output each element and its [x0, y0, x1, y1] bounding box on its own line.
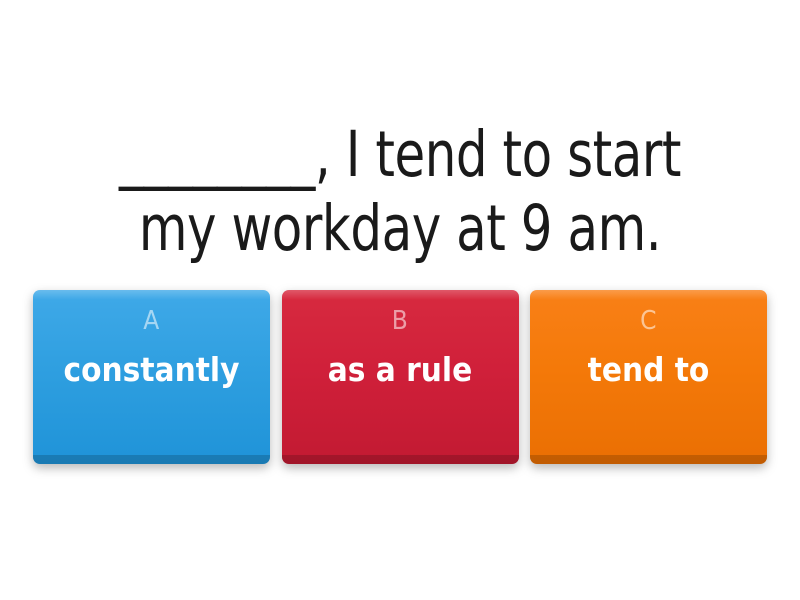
question-area: ________, I tend to start my workday at …: [0, 112, 800, 272]
answer-card-b[interactable]: B as a rule: [282, 290, 519, 464]
answer-card-a[interactable]: A constantly: [33, 290, 270, 464]
answer-card-c[interactable]: C tend to: [530, 290, 767, 464]
answer-label-c: tend to: [530, 352, 767, 389]
answer-options-row: A constantly B as a rule C tend to: [33, 290, 767, 464]
answer-letter-b: B: [392, 308, 409, 334]
answer-letter-c: C: [640, 308, 657, 334]
question-text: ________, I tend to start my workday at …: [79, 118, 721, 265]
answer-label-b: as a rule: [282, 352, 519, 389]
answer-letter-a: A: [143, 308, 160, 334]
answer-label-a: constantly: [33, 352, 270, 389]
quiz-slide: ________, I tend to start my workday at …: [0, 0, 800, 600]
